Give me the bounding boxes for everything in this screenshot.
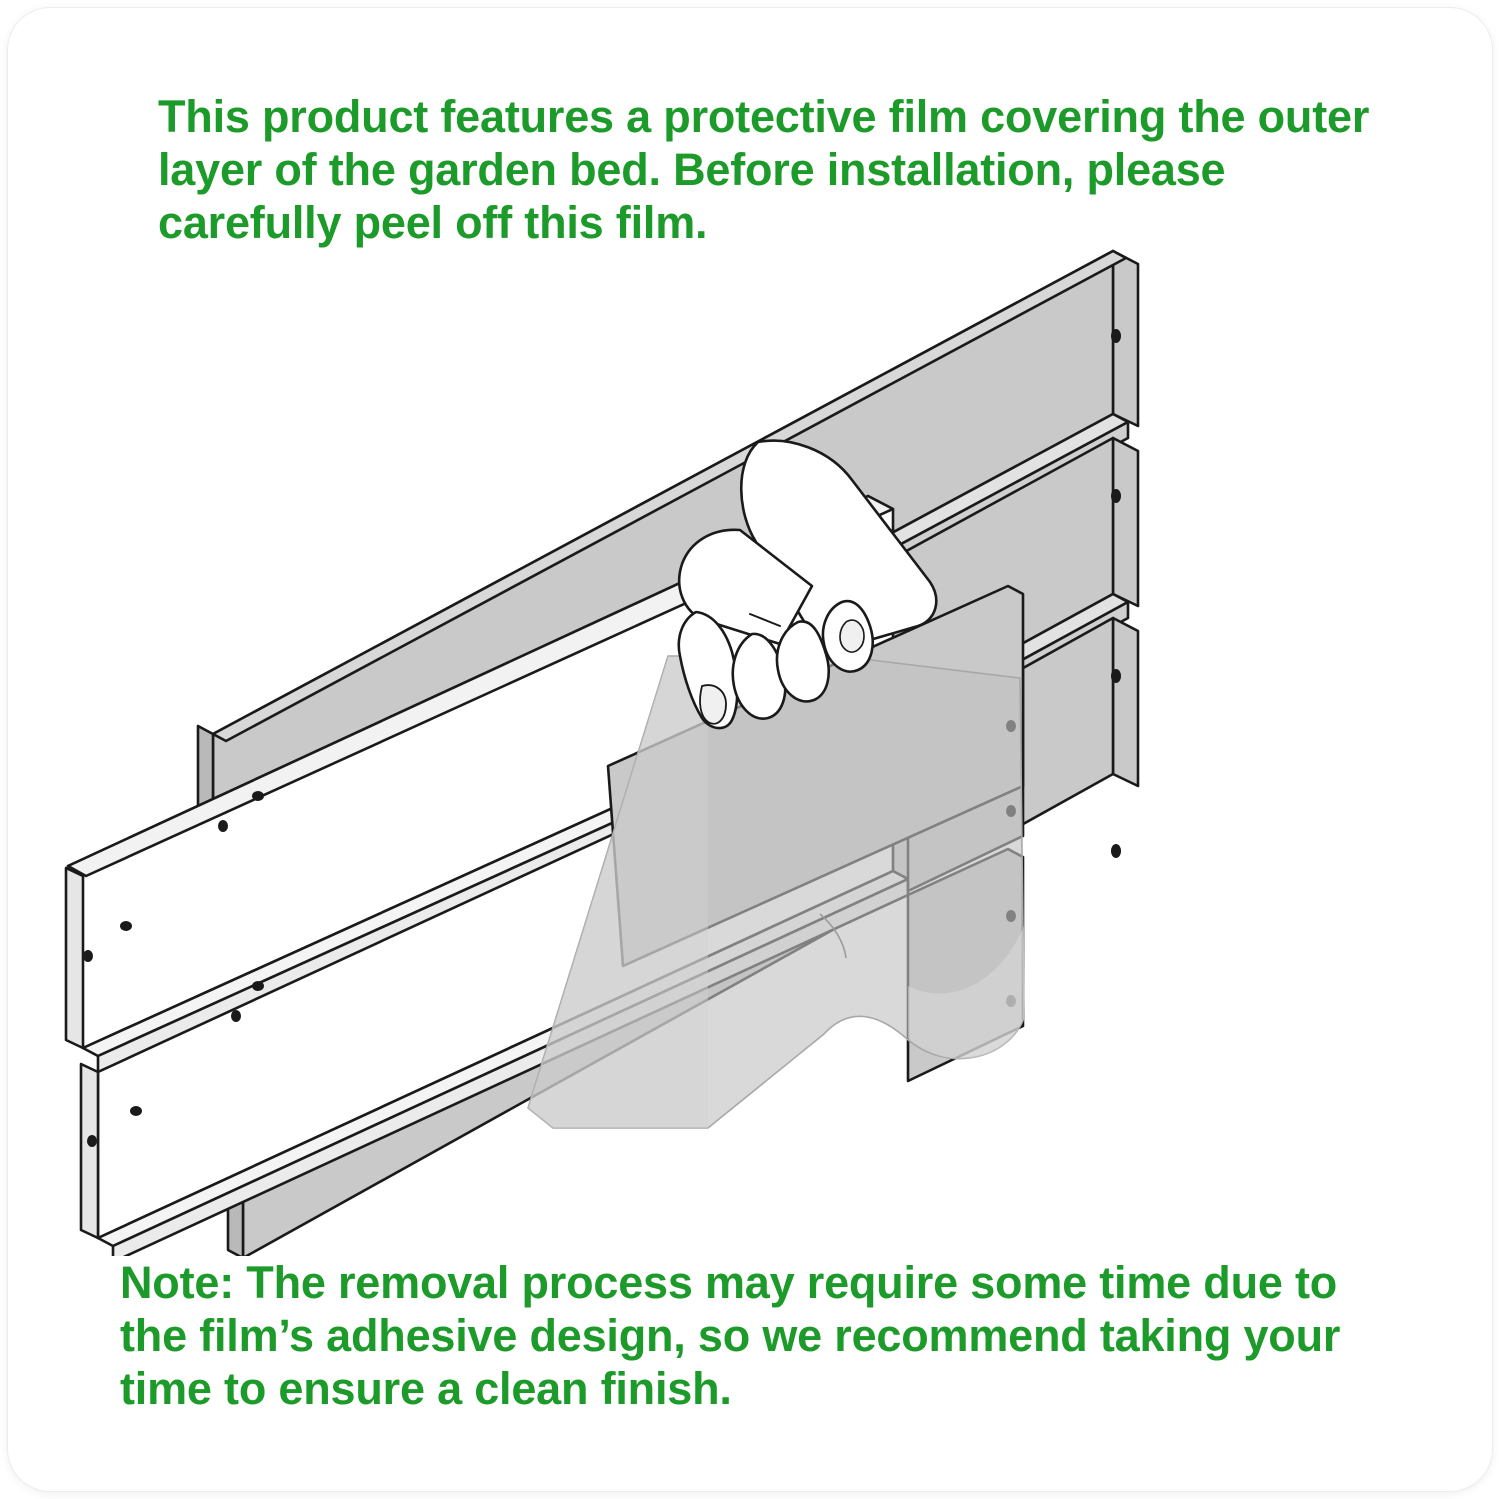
illustration-figure [8,226,1492,1256]
panel-film-peel-illustration [8,226,1492,1256]
note-text: Note: The removal process may require so… [120,1256,1410,1415]
instruction-card: This product features a protective film … [8,8,1492,1491]
